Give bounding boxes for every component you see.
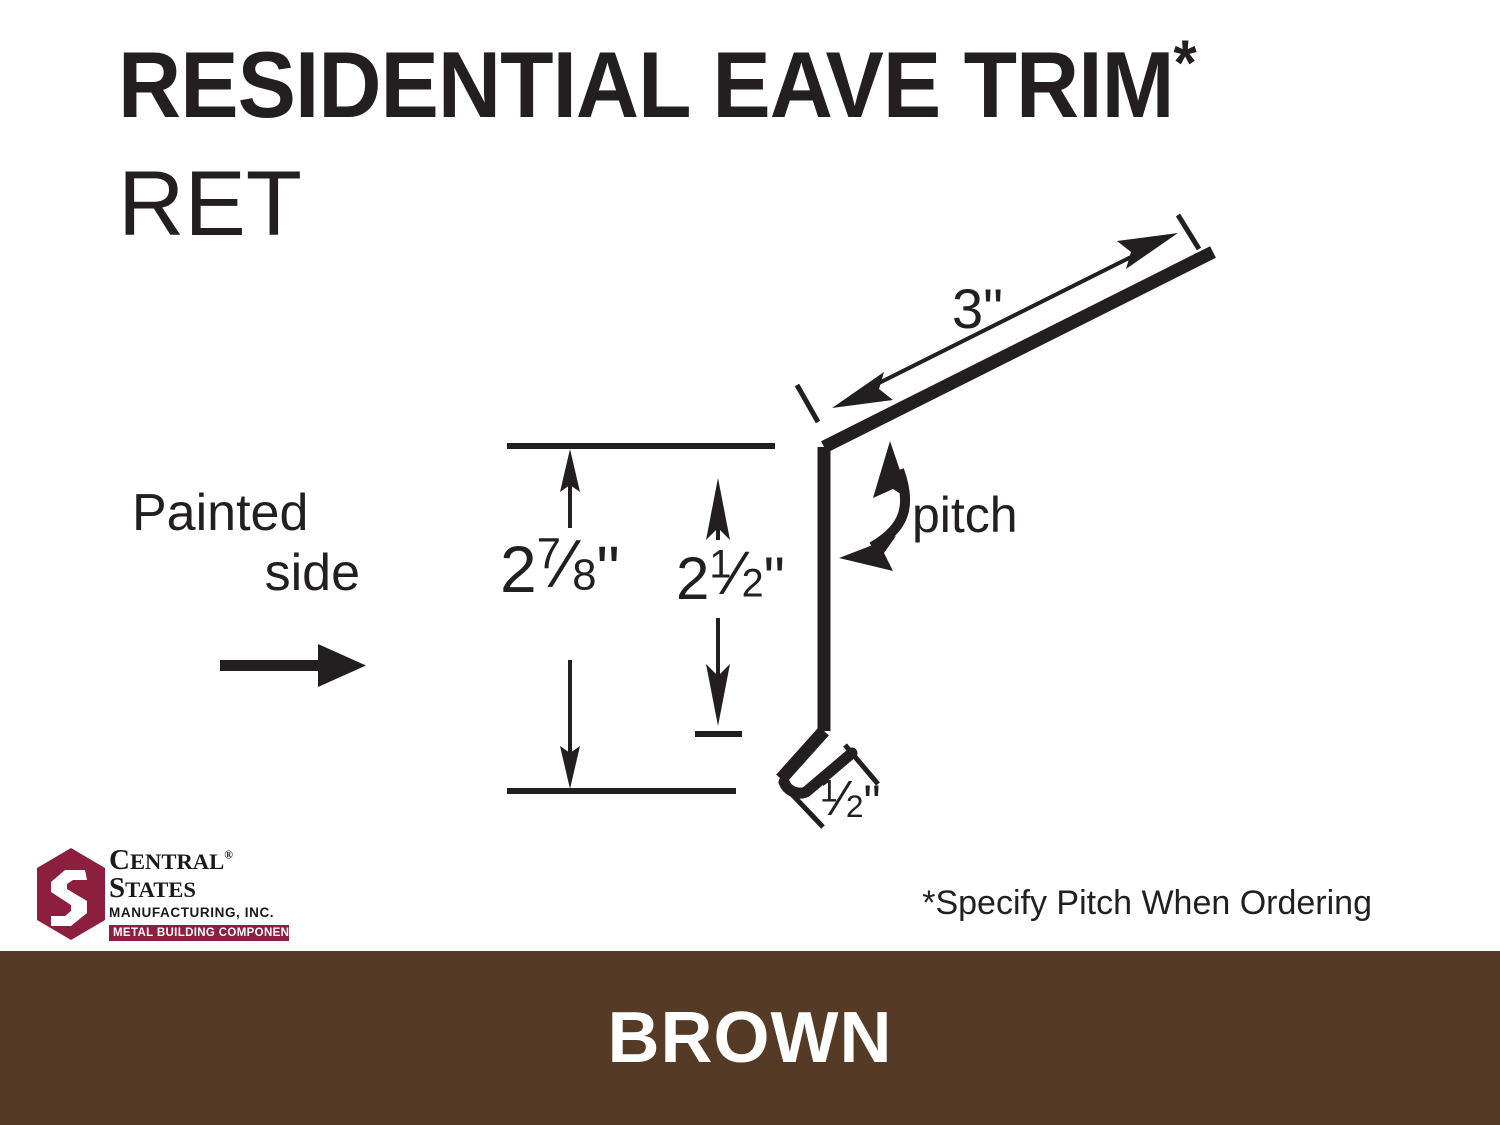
dimension-label-top-leg: 3" (952, 281, 1002, 337)
central-states-s-hexagon-icon (37, 848, 105, 940)
dim-denominator: 8 (572, 551, 596, 599)
logo-brand-cap: S (109, 872, 125, 904)
logo-brand-cap: C (109, 844, 130, 876)
dim-unit: " (596, 532, 619, 606)
dimension-label-hem: 1⁄2" (820, 779, 880, 828)
logo-brand-rest: ENTRAL (130, 849, 224, 874)
dim-whole: 2 (500, 532, 537, 606)
logo-wordmark: CENTRAL® STATES MANUFACTURING, INC. META… (109, 846, 289, 941)
logo-brand-rest: TATES (125, 877, 196, 902)
logo-brand-line-1: CENTRAL® (109, 846, 289, 874)
dim-slash: ⁄ (561, 527, 572, 602)
registered-mark: ® (224, 848, 233, 861)
dimension-label-overall-height: 27⁄8" (500, 536, 619, 603)
overall-height-dimension (507, 446, 775, 791)
footnote: *Specify Pitch When Ordering (922, 884, 1372, 923)
dim-slash: ⁄ (838, 772, 846, 826)
company-logo: CENTRAL® STATES MANUFACTURING, INC. META… (37, 846, 287, 944)
dim-numerator: 7 (537, 530, 561, 578)
dim-numerator: 1 (820, 773, 838, 809)
dim-unit: " (863, 777, 880, 830)
dim-denominator: 2 (846, 788, 864, 824)
dim-whole: 3 (952, 277, 983, 340)
dim-unit: " (983, 277, 1002, 340)
dim-slash: ⁄ (731, 539, 741, 607)
pitch-label: pitch (912, 490, 1018, 540)
logo-tagline-banner: METAL BUILDING COMPONENTS (109, 925, 289, 941)
dim-denominator: 2 (742, 562, 764, 606)
logo-company-suffix: MANUFACTURING, INC. (109, 904, 289, 922)
dimension-label-face-height: 21⁄2" (676, 548, 784, 609)
dim-numerator: 1 (709, 543, 731, 587)
logo-brand-line-2: STATES (109, 874, 289, 903)
color-banner: BROWN (0, 951, 1500, 1125)
dim-unit: " (764, 545, 785, 612)
dim-whole: 2 (676, 545, 709, 612)
product-spec-sheet: RESIDENTIAL EAVE TRIM* RET Painted side (0, 0, 1500, 1125)
pitch-angle-indicator (839, 441, 910, 571)
color-name: BROWN (608, 1002, 893, 1074)
